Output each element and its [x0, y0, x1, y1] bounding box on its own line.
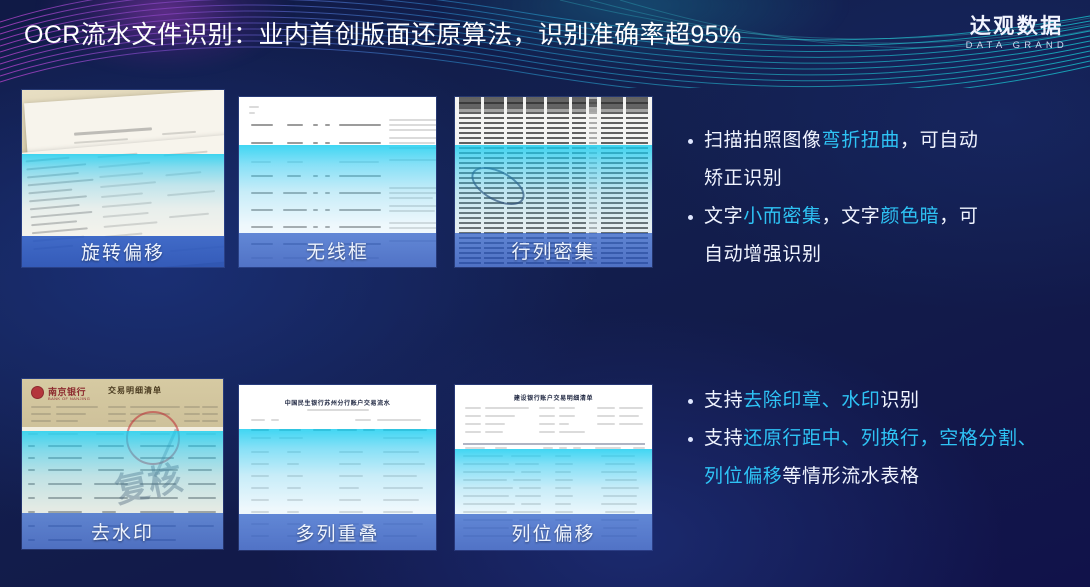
- brand-logo: 达观数据 DATA GRAND: [966, 14, 1068, 53]
- card-column-shift[interactable]: 建设银行账户交易明细清单: [455, 385, 652, 550]
- bullet-group-bottom: 支持去除印章、水印识别 支持还原行距中、列换行，空格分割、 列位偏移等情形流水表…: [684, 382, 1074, 496]
- card-dense-rows-cols[interactable]: 行列密集: [455, 97, 652, 267]
- bullet-small-dense-seg-3: 颜色暗: [880, 206, 939, 227]
- card-label-rotation-offset: 旋转偏移: [22, 236, 224, 267]
- bullet-small-dense-seg-4: ，可: [939, 206, 978, 227]
- bullet-stamp-watermark-seg-2: 识别: [880, 390, 919, 411]
- bullet-layout-restore-seg-0: 支持: [704, 428, 743, 449]
- card-label-dense-rows-cols: 行列密集: [455, 233, 652, 267]
- bullet-distortion-seg-2: ，可自动: [900, 130, 978, 151]
- card-multi-col-overlap[interactable]: 中国民生银行苏州分行账户交易流水: [239, 385, 436, 550]
- bullet-layout-restore: 支持还原行距中、列换行，空格分割、 列位偏移等情形流水表格: [684, 420, 1074, 496]
- card-label-remove-watermark: 去水印: [22, 513, 223, 549]
- page-title: OCR流水文件识别：业内首创版面还原算法，识别准确率超95%: [24, 18, 742, 52]
- bullet-small-dense-seg-1: 小而密集: [743, 206, 821, 227]
- brand-logo-cn: 达观数据: [966, 14, 1068, 39]
- bank-name-en: BANK OF NANJING: [48, 396, 90, 401]
- bullet-layout-restore-cont-seg-1: 等情形流水表格: [782, 466, 919, 487]
- bullet-distortion-seg-0: 扫描拍照图像: [704, 130, 822, 151]
- bullet-distortion-seg-1: 弯折扭曲: [822, 130, 900, 151]
- slide-root: OCR流水文件识别：业内首创版面还原算法，识别准确率超95% 达观数据 DATA…: [0, 0, 1090, 587]
- bullet-small-dense: 文字小而密集，文字颜色暗，可 自动增强识别: [684, 198, 1064, 274]
- card-label-multi-col-overlap: 多列重叠: [239, 514, 436, 550]
- bullet-small-dense-seg-2: ，文字: [822, 206, 881, 227]
- bullet-layout-restore-seg-1: 还原行距中、列换行，空格分割、: [743, 428, 1037, 449]
- bullet-small-dense-seg-0: 文字: [704, 206, 743, 227]
- bullet-stamp-watermark: 支持去除印章、水印识别: [684, 382, 1074, 420]
- brand-logo-en: DATA GRAND: [966, 39, 1068, 53]
- bullet-distortion-continuation: 矫正识别: [704, 160, 1064, 198]
- card-borderless-table[interactable]: 无线框: [239, 97, 436, 267]
- bullet-distortion: 扫描拍照图像弯折扭曲，可自动 矫正识别: [684, 122, 1064, 198]
- statement-title: 建设银行账户交易明细清单: [455, 393, 652, 402]
- card-rotation-offset[interactable]: 旋转偏移: [22, 90, 224, 267]
- bullet-layout-restore-cont-seg-0: 列位偏移: [704, 466, 782, 487]
- statement-title: 交易明细清单: [108, 385, 162, 396]
- bullet-stamp-watermark-seg-1: 去除印章、水印: [743, 390, 880, 411]
- bullet-layout-restore-continuation: 列位偏移等情形流水表格: [704, 458, 1074, 496]
- card-label-column-shift: 列位偏移: [455, 514, 652, 550]
- card-remove-watermark[interactable]: 南京银行 BANK OF NANJING 交易明细清单: [22, 379, 223, 549]
- statement-title: 中国民生银行苏州分行账户交易流水: [239, 398, 436, 407]
- bank-logo-icon: [31, 386, 44, 399]
- bullet-stamp-watermark-seg-0: 支持: [704, 390, 743, 411]
- bullet-group-top: 扫描拍照图像弯折扭曲，可自动 矫正识别 文字小而密集，文字颜色暗，可 自动增强识…: [684, 122, 1064, 274]
- card-label-borderless-table: 无线框: [239, 233, 436, 267]
- bullet-small-dense-continuation: 自动增强识别: [704, 236, 1064, 274]
